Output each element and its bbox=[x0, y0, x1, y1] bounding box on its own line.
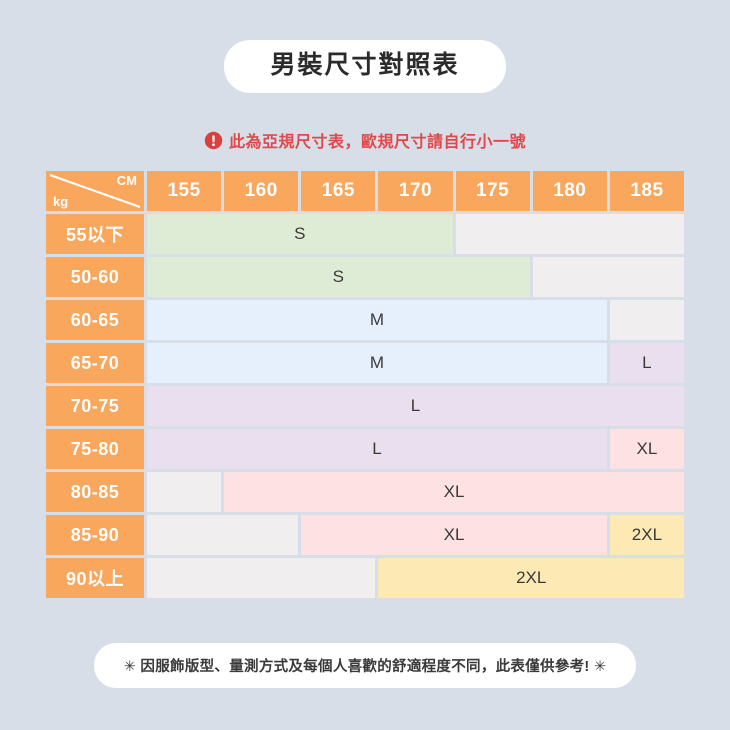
column-header-185: 185 bbox=[610, 171, 684, 211]
empty-cell bbox=[533, 257, 684, 297]
table-row: 70-75L bbox=[46, 386, 684, 426]
table-row: 55以下S bbox=[46, 214, 684, 254]
table-row: 85-90XL2XL bbox=[46, 515, 684, 555]
empty-cell bbox=[456, 214, 684, 254]
size-cell-S: S bbox=[147, 257, 530, 297]
row-label-7: 85-90 bbox=[46, 515, 144, 555]
size-cell-XL: XL bbox=[610, 429, 684, 469]
corner-kg-label: kg bbox=[53, 194, 68, 209]
empty-cell bbox=[610, 300, 684, 340]
footer-container: ✳ 因服飾版型、量測方式及每個人喜歡的舒適程度不同，此表僅供參考! ✳ bbox=[0, 643, 730, 688]
title-container: 男裝尺寸對照表 bbox=[0, 40, 730, 93]
row-label-8: 90以上 bbox=[46, 558, 144, 598]
column-header-170: 170 bbox=[378, 171, 452, 211]
table-row: 80-85XL bbox=[46, 472, 684, 512]
size-cell-M: M bbox=[147, 300, 607, 340]
empty-cell bbox=[147, 472, 221, 512]
warning-text: 此為亞規尺寸表，歐規尺寸請自行小一號 bbox=[229, 128, 526, 152]
row-label-0: 55以下 bbox=[46, 214, 144, 254]
column-header-175: 175 bbox=[456, 171, 530, 211]
row-label-1: 50-60 bbox=[46, 257, 144, 297]
size-cell-XL: XL bbox=[224, 472, 684, 512]
table-row: 90以上2XL bbox=[46, 558, 684, 598]
warning-notice: 此為亞規尺寸表，歐規尺寸請自行小一號 bbox=[0, 128, 730, 152]
exclamation-circle-icon bbox=[204, 131, 223, 150]
size-chart-page: 男裝尺寸對照表 此為亞規尺寸表，歐規尺寸請自行小一號 CMkg155160165… bbox=[0, 0, 730, 730]
column-header-165: 165 bbox=[301, 171, 375, 211]
size-cell-2XL: 2XL bbox=[378, 558, 684, 598]
page-title: 男裝尺寸對照表 bbox=[224, 40, 505, 93]
row-label-5: 75-80 bbox=[46, 429, 144, 469]
empty-cell bbox=[147, 558, 375, 598]
row-label-4: 70-75 bbox=[46, 386, 144, 426]
row-label-2: 60-65 bbox=[46, 300, 144, 340]
size-cell-S: S bbox=[147, 214, 453, 254]
size-table: CMkg15516016517017518018555以下S50-60S60-6… bbox=[46, 171, 684, 598]
row-label-3: 65-70 bbox=[46, 343, 144, 383]
table-row: 75-80LXL bbox=[46, 429, 684, 469]
corner-cell: CMkg bbox=[46, 171, 144, 211]
size-cell-M: M bbox=[147, 343, 607, 383]
size-cell-L: L bbox=[147, 429, 607, 469]
table-row: 60-65M bbox=[46, 300, 684, 340]
size-cell-L: L bbox=[147, 386, 684, 426]
size-cell-XL: XL bbox=[301, 515, 607, 555]
table-row: 50-60S bbox=[46, 257, 684, 297]
size-cell-2XL: 2XL bbox=[610, 515, 684, 555]
footer-note: ✳ 因服飾版型、量測方式及每個人喜歡的舒適程度不同，此表僅供參考! ✳ bbox=[94, 643, 637, 688]
table-row: 65-70ML bbox=[46, 343, 684, 383]
empty-cell bbox=[147, 515, 298, 555]
column-header-180: 180 bbox=[533, 171, 607, 211]
corner-cm-label: CM bbox=[117, 173, 137, 188]
column-header-160: 160 bbox=[224, 171, 298, 211]
row-label-6: 80-85 bbox=[46, 472, 144, 512]
size-cell-L: L bbox=[610, 343, 684, 383]
column-header-155: 155 bbox=[147, 171, 221, 211]
table-header-row: CMkg155160165170175180185 bbox=[46, 171, 684, 211]
